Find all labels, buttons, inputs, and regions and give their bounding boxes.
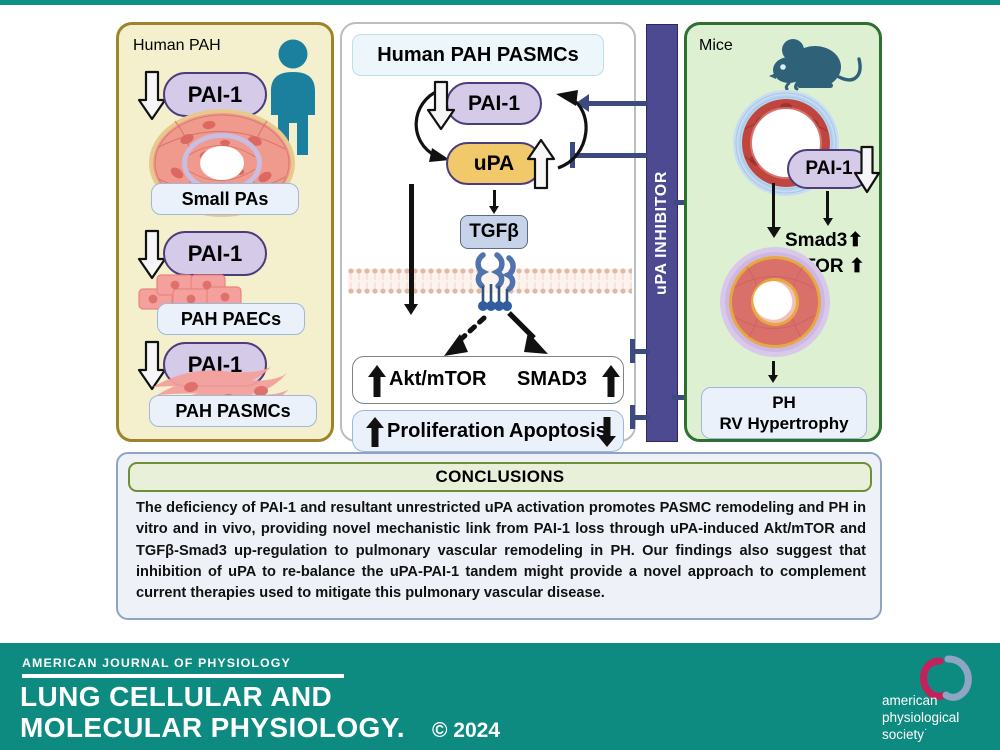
mice-to-ph-arrowhead	[768, 375, 778, 383]
upa-to-akt-line	[409, 184, 414, 306]
tgfb-receptor-icon	[470, 248, 522, 319]
conclusions-panel: CONCLUSIONS The deficiency of PAI-1 and …	[116, 452, 882, 620]
down-arrow-outline-mice-pai1	[853, 145, 881, 195]
label-proliferation: Proliferation	[387, 420, 505, 443]
inhibitor-stub-left-lower-tbar	[630, 405, 635, 429]
aps-line-3: society˙	[882, 726, 959, 743]
footer-title-line1: LUNG CELLULAR AND	[20, 681, 332, 713]
graphical-abstract: Human PAH PAI-1	[0, 0, 1000, 750]
label-apoptosis: Apoptosis	[509, 420, 607, 443]
panel-human-pah-pasmcs: Human PAH PASMCs PAI-1 uPA	[340, 22, 636, 442]
label-pah-pasmcs: PAH PASMCs	[149, 395, 317, 427]
mice-pai1-down-arrowhead	[823, 218, 833, 226]
upa-to-tgfb-line	[493, 190, 496, 207]
mice-vessel-down-line	[772, 183, 775, 229]
node-tgfb: TGFβ	[460, 215, 528, 249]
footer-divider	[22, 674, 344, 678]
conclusions-body: The deficiency of PAI-1 and resultant un…	[136, 498, 866, 604]
label-pah-paecs: PAH PAECs	[157, 303, 305, 335]
up-arrow-mtor-mice: ⬆	[849, 257, 865, 276]
aps-line-1: american	[882, 692, 959, 709]
aps-logo-text: american physiological society˙	[882, 692, 959, 743]
footer-kicker: AMERICAN JOURNAL OF PHYSIOLOGY	[22, 656, 291, 670]
label-akt-mtor: Akt/mTOR	[389, 368, 486, 391]
journal-footer: AMERICAN JOURNAL OF PHYSIOLOGY LUNG CELL…	[0, 643, 1000, 750]
conclusions-title: CONCLUSIONS	[128, 462, 872, 492]
down-arrow-apoptosis	[597, 416, 617, 453]
label-rv-hypertrophy: RV Hypertrophy	[719, 413, 848, 434]
footer-title-line2: MOLECULAR PHYSIOLOGY.	[20, 712, 405, 744]
panel-human-pah: Human PAH PAI-1	[116, 22, 334, 442]
upa-inhibitor-bar: uPA INHIBITOR	[646, 24, 678, 442]
mice-vessel-down-arrowhead	[767, 227, 781, 238]
up-arrow-smad3-mice: ⬆	[847, 231, 863, 250]
upa-to-tgfb-arrowhead	[489, 206, 499, 214]
mice-pai1-down-line	[826, 191, 829, 219]
node-pasmc-pai1: PAI-1	[446, 82, 542, 125]
remodeled-vessel-cross-section	[713, 243, 837, 366]
label-ph: PH	[772, 392, 796, 413]
node-pai1-paecs: PAI-1	[163, 231, 267, 276]
label-small-pas: Small PAs	[151, 183, 299, 215]
label-smad3: SMAD3	[517, 368, 587, 391]
aps-line-2: physiological	[882, 709, 959, 726]
panel-pasmc-title: Human PAH PASMCs	[352, 34, 604, 76]
down-arrow-outline-pasmc-pai1	[426, 80, 456, 132]
outcome-ph-rv-hypertrophy: PH RV Hypertrophy	[701, 387, 867, 439]
inhibitor-stub-left-upper-tbar	[630, 339, 635, 363]
panel-human-header: Human PAH	[133, 37, 221, 55]
panel-mice-header: Mice	[699, 37, 733, 55]
upa-inhibitor-label: uPA INHIBITOR	[653, 171, 671, 295]
up-arrow-outline-pasmc-upa	[526, 137, 556, 191]
footer-copyright: © 2024	[432, 719, 500, 743]
up-arrow-akt	[367, 364, 387, 403]
upa-to-akt-arrowhead	[404, 304, 418, 315]
panel-mice: Mice	[684, 22, 882, 442]
outcome-box-akt-smad3: Akt/mTOR SMAD3	[352, 356, 624, 404]
up-arrow-smad3	[601, 364, 621, 403]
effect-box-proliferation-apoptosis: Proliferation Apoptosis	[352, 410, 624, 452]
up-arrow-proliferation	[365, 416, 385, 453]
top-accent-rule	[0, 0, 1000, 5]
